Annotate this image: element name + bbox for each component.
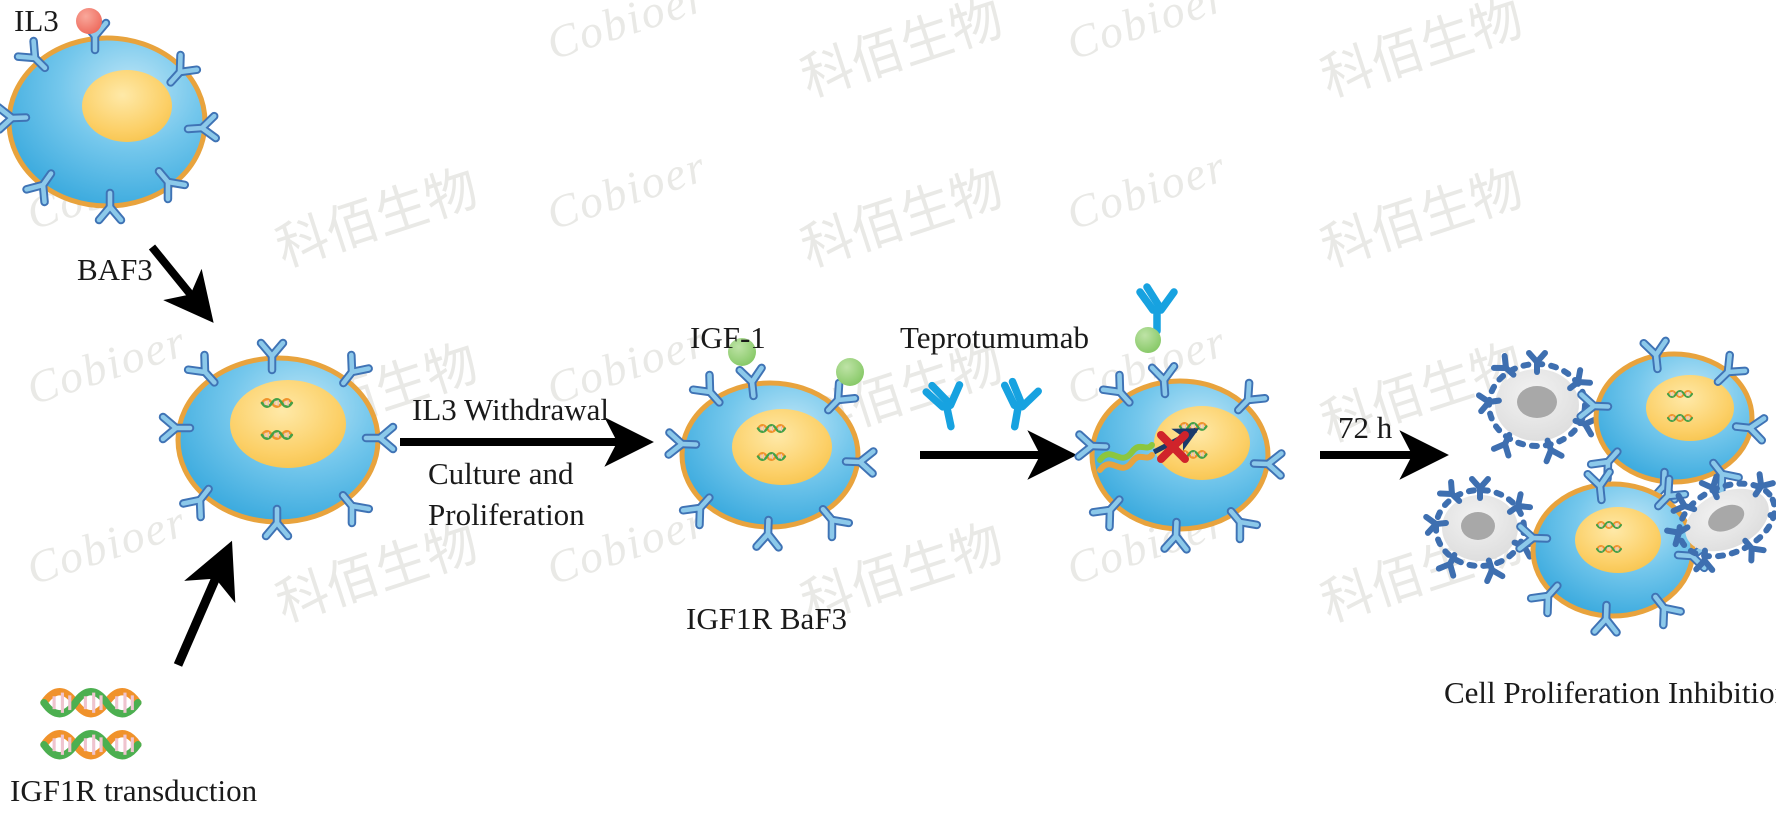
- label-72h: 72 h: [1338, 410, 1392, 446]
- label-il3: IL3: [14, 3, 59, 39]
- label-baf3: BAF3: [77, 252, 153, 288]
- label-teprotumumab: Teprotumumab: [900, 320, 1089, 356]
- cell-blocked-signaling: [1079, 287, 1282, 549]
- label-culture-and: Culture and: [428, 456, 574, 492]
- igf1-ligand-icon: [1135, 327, 1161, 353]
- arrow-dna-to-cell: [178, 550, 228, 665]
- cell-igf1r-transduced: [163, 343, 393, 536]
- il3-ligand-icon: [76, 8, 102, 34]
- outcome-cell-cluster: [1426, 341, 1776, 632]
- label-igf1: IGF-1: [690, 320, 766, 356]
- label-igf1r-baf3: IGF1R BaF3: [686, 601, 847, 637]
- cell-baf3: [0, 23, 216, 220]
- label-il3-withdrawal: IL3 Withdrawal: [412, 392, 609, 428]
- igf1-ligand-icon: [836, 358, 864, 386]
- igf1r-dna-cargo-icon: [44, 692, 138, 756]
- cell-igf1r-baf3: [669, 338, 874, 547]
- label-igf1r-transduction: IGF1R transduction: [10, 773, 257, 809]
- figure-canvas: Cobioer科佰生物Cobioer科佰生物Cobioer科佰生物Cobioer…: [0, 0, 1776, 813]
- arrow-baf3-to-igf1r: [152, 247, 208, 316]
- dead-cell: [1479, 353, 1596, 461]
- bound-antibody-icon: [1140, 287, 1174, 331]
- label-proliferation: Proliferation: [428, 497, 585, 533]
- label-cell-proliferation-inhibition: Cell Proliferation Inhibition: [1444, 675, 1776, 711]
- teprotumumab-antibodies-icon: [925, 380, 1039, 430]
